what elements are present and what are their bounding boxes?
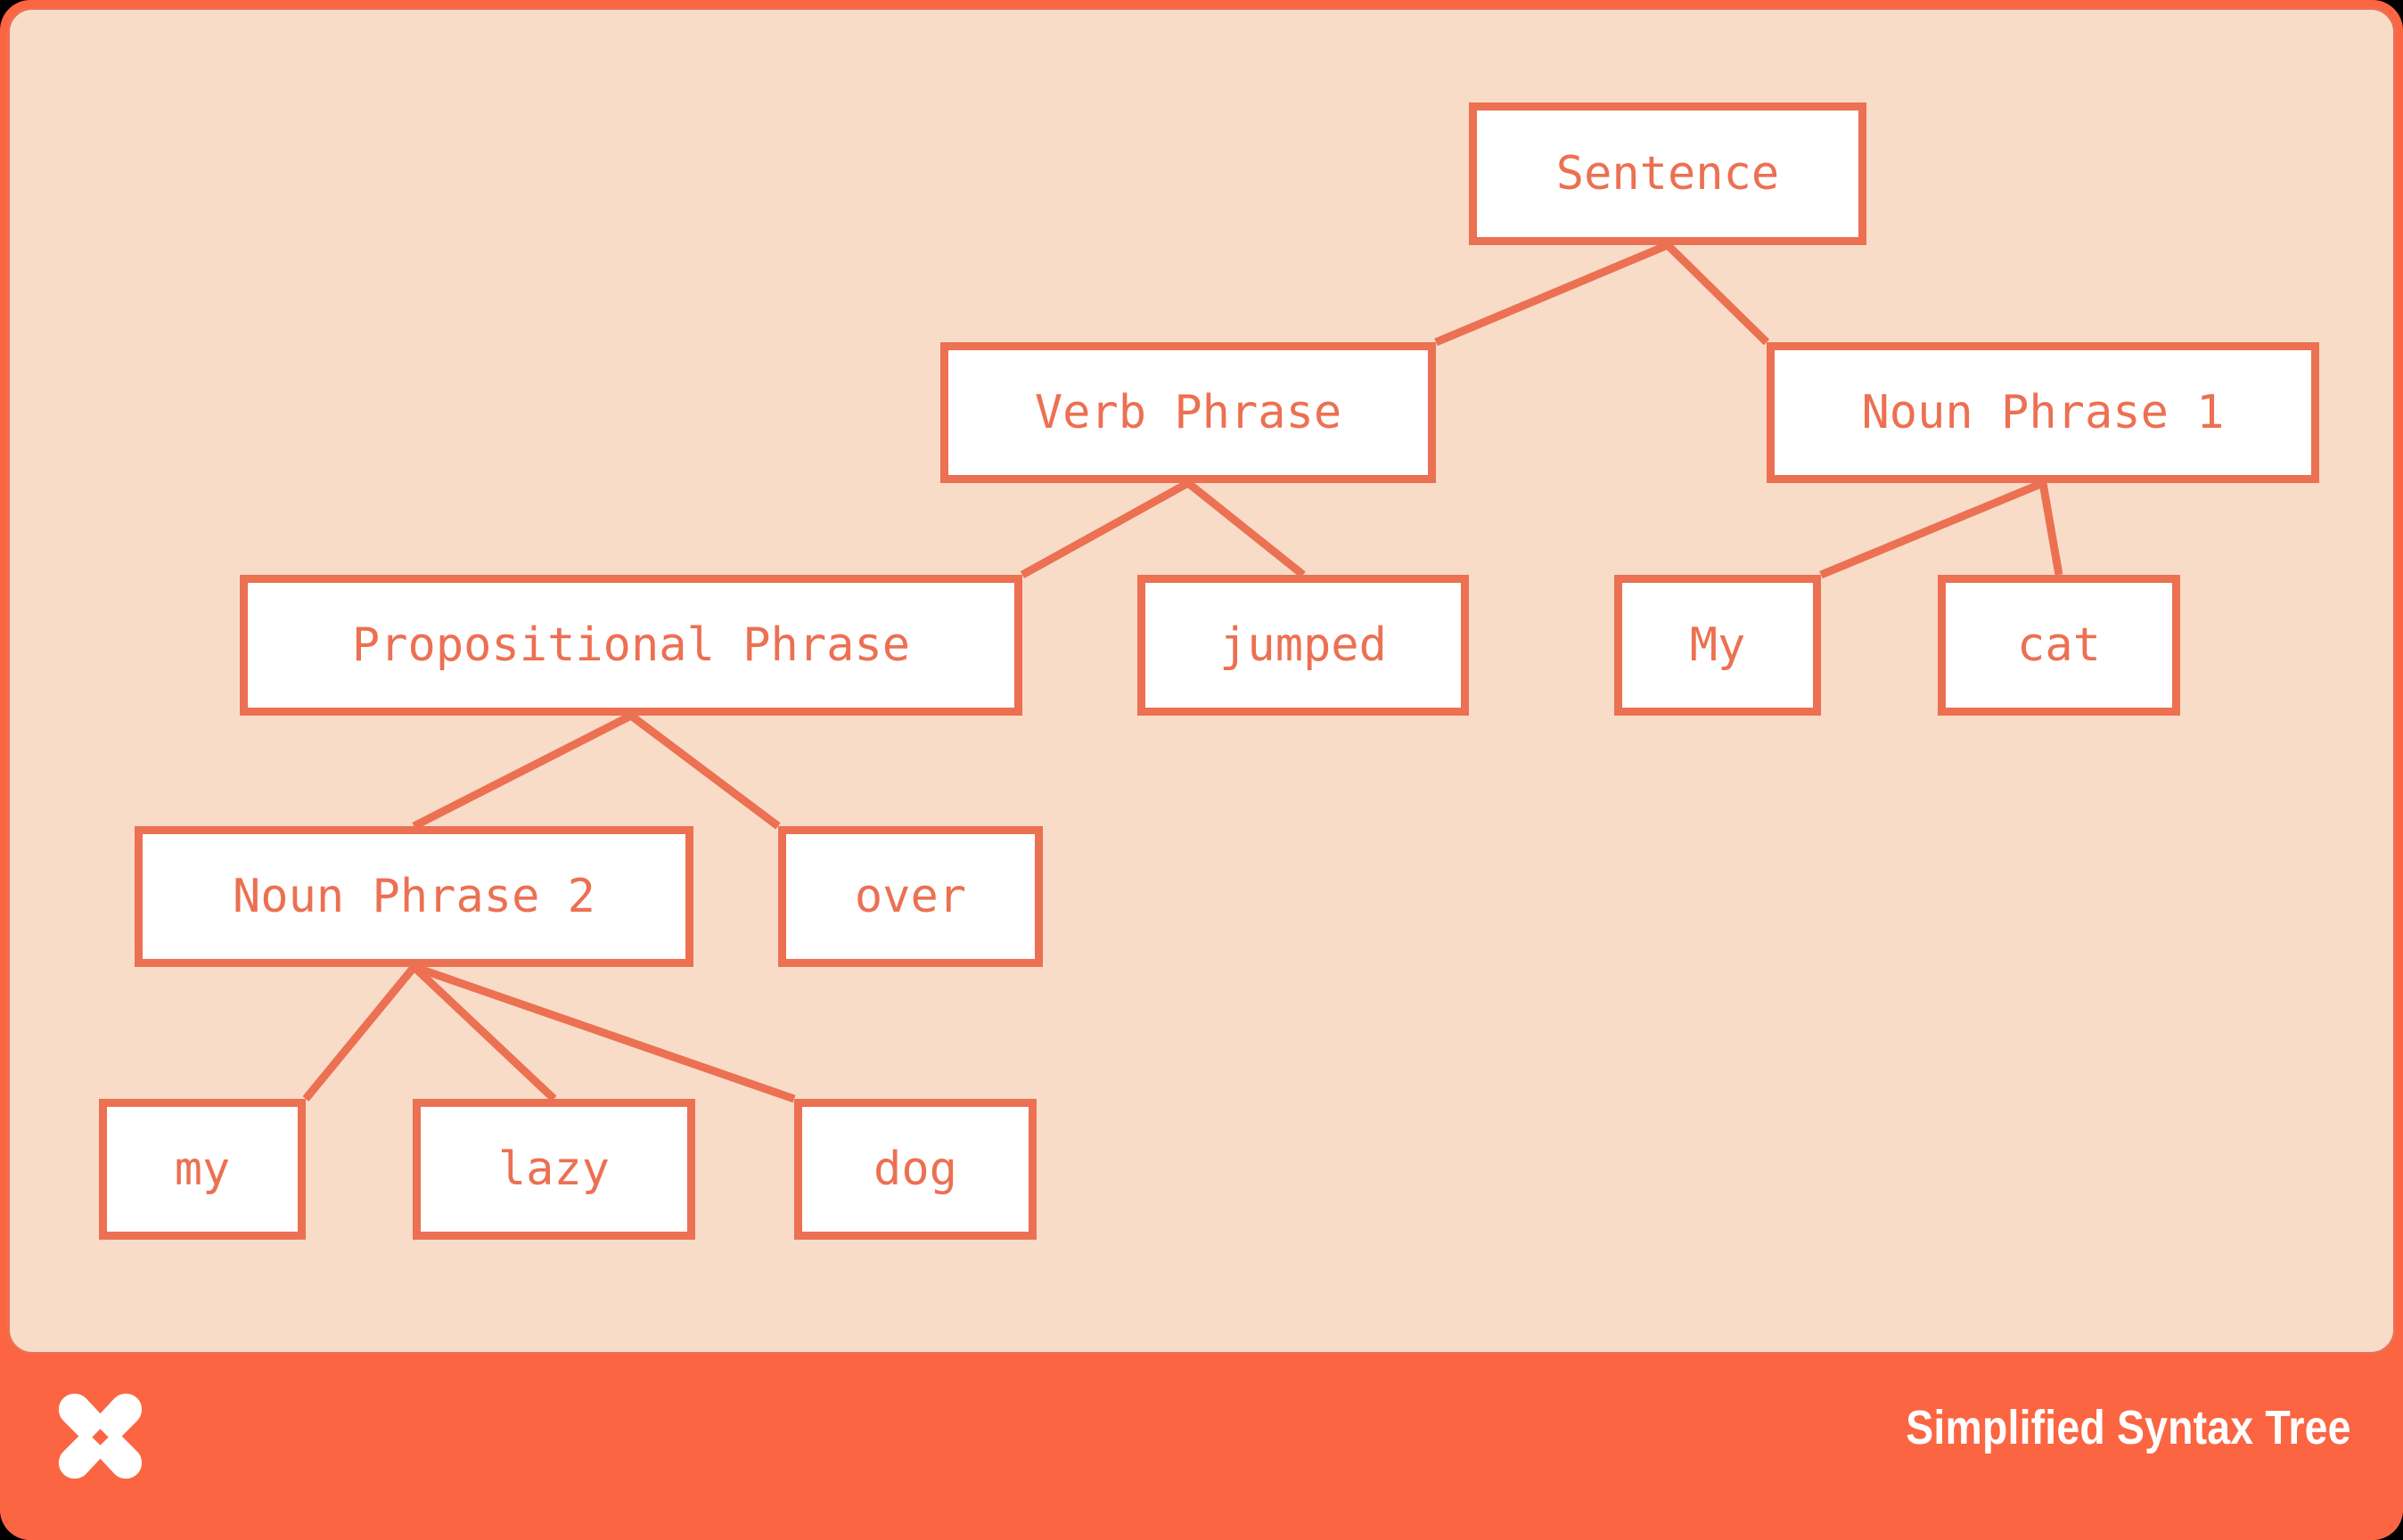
tree-node-label: dog (873, 1146, 957, 1192)
tree-edge-noun_phrase2-to-my_low (306, 967, 414, 1099)
tree-edge-sentence-to-verb_phrase (1436, 245, 1668, 342)
tree-node-prop_phrase[interactable]: Propositional Phrase (240, 575, 1022, 716)
tree-node-label: Noun Phrase 1 (1862, 389, 2225, 436)
tree-node-label: Verb Phrase (1035, 389, 1341, 436)
tree-node-dog[interactable]: dog (794, 1099, 1037, 1240)
tree-edge-noun_phrase1-to-cat (2043, 483, 2059, 575)
tree-node-my_low[interactable]: my (99, 1099, 306, 1240)
tree-edge-sentence-to-noun_phrase1 (1668, 245, 1767, 342)
tree-node-sentence[interactable]: Sentence (1469, 102, 1866, 245)
tree-node-label: Propositional Phrase (352, 622, 910, 668)
tree-node-verb_phrase[interactable]: Verb Phrase (940, 342, 1436, 483)
tree-edge-prop_phrase-to-noun_phrase2 (414, 716, 632, 826)
footer-title: Simplified Syntax Tree (1907, 1399, 2351, 1457)
tree-node-label: my (175, 1146, 231, 1192)
footer-bar: Simplified Syntax Tree (0, 1355, 2403, 1540)
tree-node-noun_phrase2[interactable]: Noun Phrase 2 (135, 826, 693, 967)
tree-edge-verb_phrase-to-jumped (1188, 483, 1303, 575)
tree-node-label: over (855, 873, 966, 920)
x-star-logo-icon (49, 1392, 152, 1495)
tree-edge-prop_phrase-to-over (631, 716, 778, 826)
tree-node-my_cap[interactable]: My (1614, 575, 1821, 716)
tree-node-label: cat (2017, 622, 2101, 668)
tree-node-over[interactable]: over (778, 826, 1043, 967)
tree-edge-noun_phrase2-to-lazy (414, 967, 554, 1099)
tree-node-label: jumped (1219, 622, 1387, 668)
tree-node-cat[interactable]: cat (1938, 575, 2180, 716)
tree-edge-verb_phrase-to-prop_phrase (1022, 483, 1188, 575)
tree-node-label: Sentence (1556, 151, 1779, 197)
tree-node-jumped[interactable]: jumped (1137, 575, 1469, 716)
diagram-frame: SentenceVerb PhraseNoun Phrase 1Proposit… (0, 0, 2403, 1540)
tree-canvas: SentenceVerb PhraseNoun Phrase 1Proposit… (7, 7, 2396, 1355)
tree-node-noun_phrase1[interactable]: Noun Phrase 1 (1767, 342, 2319, 483)
tree-node-label: Noun Phrase 2 (233, 873, 595, 920)
tree-edge-noun_phrase2-to-dog (414, 967, 795, 1099)
tree-node-lazy[interactable]: lazy (413, 1099, 695, 1240)
tree-node-label: My (1690, 622, 1746, 668)
tree-edge-noun_phrase1-to-my_cap (1821, 483, 2043, 575)
tree-node-label: lazy (498, 1146, 610, 1192)
